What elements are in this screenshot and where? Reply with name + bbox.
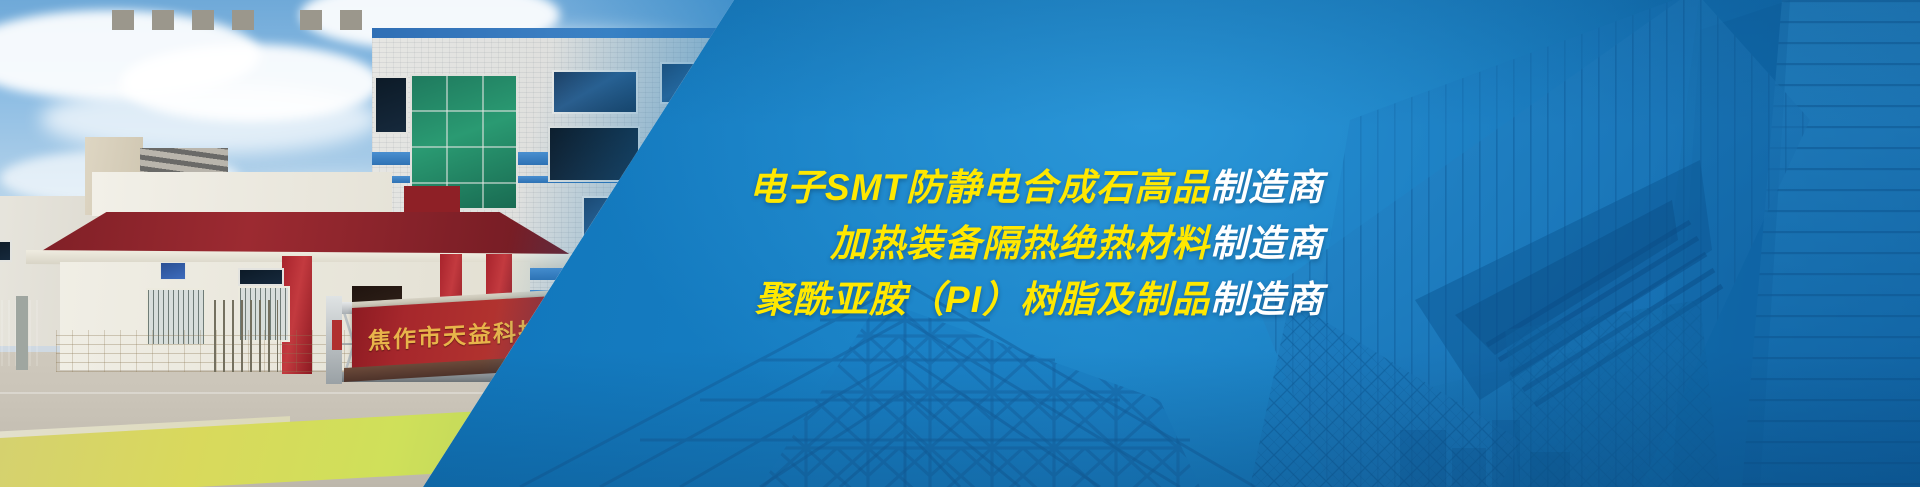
headline-1-highlight: 电子SMT防静电合成石高品 bbox=[749, 167, 1210, 208]
hero-banner: 焦作市天益科技有限公司 电子SMT防静电合成石高品制造商 加热装备隔热绝热材料制… bbox=[0, 0, 1920, 487]
headline-block: 电子SMT防静电合成石高品制造商 加热装备隔热绝热材料制造商 聚酰亚胺（PI）树… bbox=[0, 0, 1920, 487]
headline-line-2: 加热装备隔热绝热材料制造商 bbox=[830, 221, 1324, 266]
headline-2-highlight: 加热装备隔热绝热材料 bbox=[830, 223, 1210, 264]
headline-2-tail: 制造商 bbox=[1210, 223, 1324, 264]
headline-3-tail: 制造商 bbox=[1210, 279, 1324, 320]
headline-3-highlight: 聚酰亚胺（PI）树脂及制品 bbox=[755, 279, 1210, 320]
headline-line-1: 电子SMT防静电合成石高品制造商 bbox=[749, 165, 1324, 210]
headline-line-3: 聚酰亚胺（PI）树脂及制品制造商 bbox=[755, 277, 1324, 322]
headline-1-tail: 制造商 bbox=[1210, 167, 1324, 208]
